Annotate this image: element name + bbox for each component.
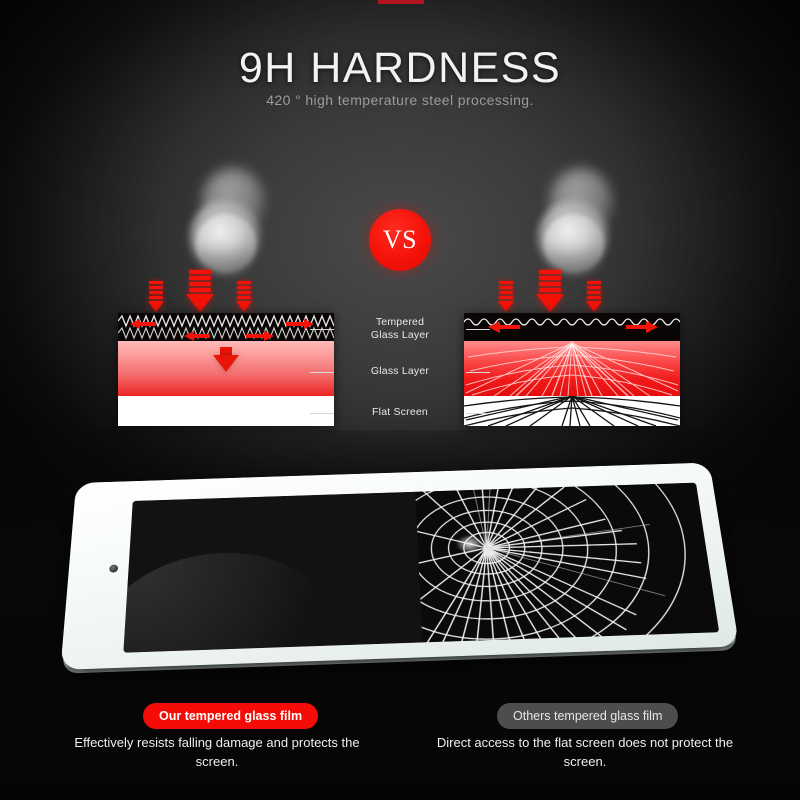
- label-flat-screen: Flat Screen: [336, 406, 464, 419]
- crack-pattern-icon: [464, 396, 680, 426]
- tempered-glass-layer: [464, 313, 680, 341]
- tempered-glass-layer: [118, 313, 334, 341]
- screen-half-intact: [123, 492, 422, 653]
- falling-ball-left: [180, 168, 272, 286]
- top-accent-bar: [378, 0, 424, 4]
- impact-arrow-icon: [586, 281, 602, 312]
- impact-arrows-left: [148, 272, 252, 312]
- caption-others-film: Direct access to the flat screen does no…: [420, 733, 750, 771]
- vs-label: VS: [383, 225, 417, 255]
- glass-layer: [118, 341, 334, 396]
- zigzag-pattern-icon: [118, 313, 334, 341]
- crack-pattern-icon: [464, 341, 680, 396]
- label-dash-left: [310, 329, 334, 330]
- vs-badge: VS: [369, 209, 431, 271]
- badge-our-film: Our tempered glass film: [143, 703, 318, 729]
- page-title: 9H HARDNESS: [0, 44, 800, 93]
- impact-arrow-icon: [536, 270, 564, 312]
- label-tempered-glass-layer: Tempered Glass Layer: [336, 316, 464, 342]
- screen-reflection: [123, 540, 343, 653]
- label-dash-right: [466, 329, 490, 330]
- impact-arrow-icon: [186, 270, 214, 312]
- caption-our-film: Effectively resists falling damage and p…: [52, 733, 382, 771]
- label-dash-left: [310, 372, 334, 373]
- zigzag-pattern-icon: [464, 313, 680, 341]
- tablet-device: [38, 437, 764, 677]
- layer-panel-unprotected: [464, 313, 680, 426]
- impact-arrow-icon: [236, 281, 252, 312]
- label-dash-right: [466, 413, 490, 414]
- glass-layer: [464, 341, 680, 396]
- label-glass-layer: Glass Layer: [336, 365, 464, 378]
- flat-screen-layer: [118, 396, 334, 426]
- tablet-body: [60, 463, 739, 670]
- infographic-canvas: 9H HARDNESS 420 ° high temperature steel…: [0, 0, 800, 800]
- impact-arrow-icon: [148, 281, 164, 312]
- layer-label-group: Tempered Glass Layer Glass Layer Flat Sc…: [336, 312, 464, 419]
- tablet-screen: [123, 483, 719, 653]
- screen-half-shattered: [415, 483, 719, 643]
- label-dash-right: [466, 372, 490, 373]
- impact-arrow-icon: [498, 281, 514, 312]
- page-subtitle: 420 ° high temperature steel processing.: [0, 92, 800, 108]
- force-down-arrow-icon: [213, 355, 239, 372]
- label-dash-left: [310, 413, 334, 414]
- falling-ball-right: [528, 168, 620, 286]
- front-camera-icon: [109, 565, 118, 573]
- layer-panel-protected: [118, 313, 334, 426]
- flat-screen-layer: [464, 396, 680, 426]
- impact-arrows-right: [498, 272, 602, 312]
- shattered-glass-icon: [415, 483, 719, 643]
- badge-others-film: Others tempered glass film: [497, 703, 678, 729]
